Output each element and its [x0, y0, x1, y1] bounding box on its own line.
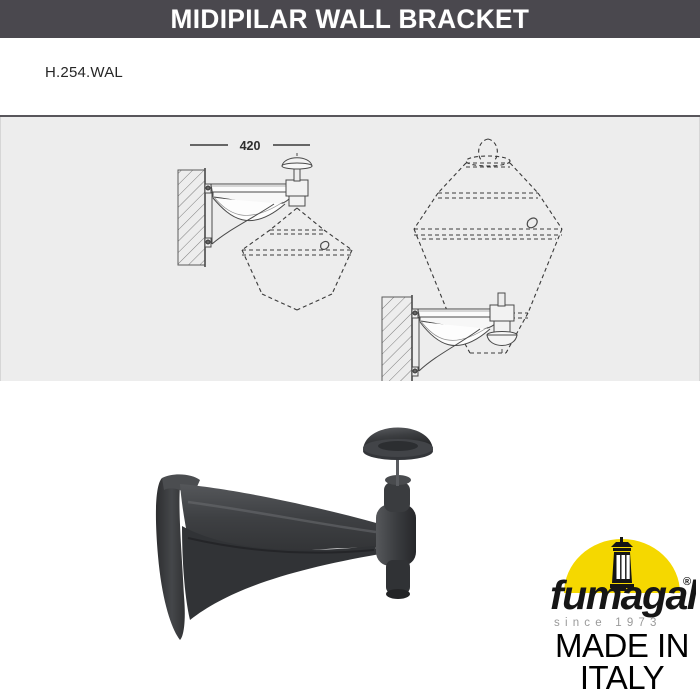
product-sheet-page: MIDIPILAR WALL BRACKET H.254.WAL 420: [0, 0, 700, 700]
product-photo: [118, 406, 458, 651]
technical-drawing-panel: 420: [0, 115, 700, 381]
product-code: H.254.WAL: [45, 64, 123, 81]
panel-left-edge: [0, 117, 1, 381]
italy-line: ITALY: [580, 659, 665, 693]
technical-drawing-inverted-view: [370, 117, 605, 383]
page-title-bar: MIDIPILAR WALL BRACKET: [0, 0, 700, 38]
logo-registered-mark: ®: [683, 576, 691, 588]
technical-drawing-side-view: 420: [150, 122, 365, 337]
brand-logo: fumagalli ® since 1973 MADE IN ITALY: [548, 531, 696, 693]
page-title: MIDIPILAR WALL BRACKET: [171, 4, 530, 35]
product-code-row: H.254.WAL: [0, 38, 700, 115]
logo-brand-text: fumagalli: [550, 572, 696, 618]
dimension-420-label: 420: [240, 139, 261, 153]
